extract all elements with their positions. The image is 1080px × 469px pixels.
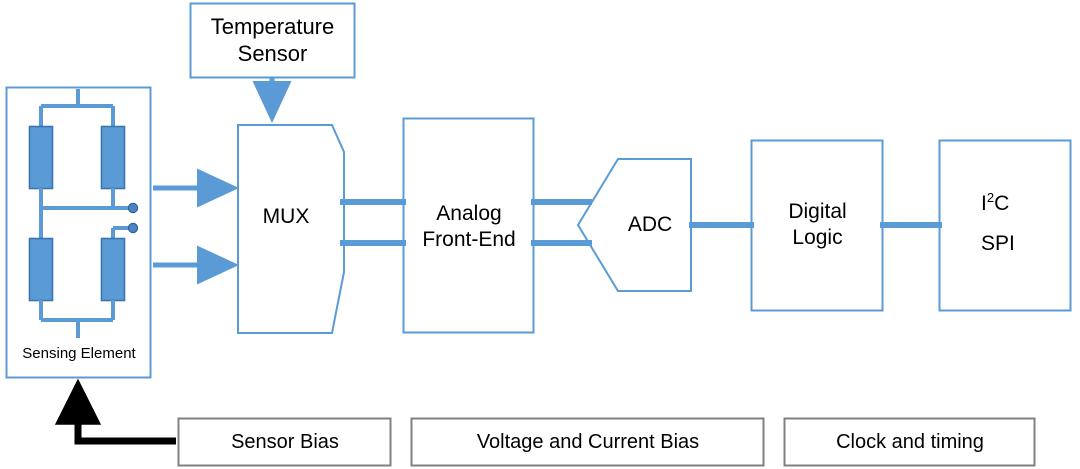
voltage-current-bias-box[interactable] bbox=[412, 419, 764, 466]
interface-box[interactable] bbox=[940, 141, 1071, 311]
diagram-vector-layer bbox=[0, 0, 1080, 469]
adc-block[interactable] bbox=[578, 159, 691, 291]
clock-timing-box[interactable] bbox=[785, 419, 1035, 466]
temperature-sensor-box[interactable] bbox=[191, 4, 355, 78]
block-diagram-canvas: Sensing Element Temperature Sensor MUX A… bbox=[0, 0, 1080, 469]
resistor-bottom-right bbox=[102, 239, 125, 301]
resistor-top-left bbox=[30, 127, 53, 189]
terminal-dot-lower bbox=[128, 223, 137, 232]
digital-logic-box[interactable] bbox=[752, 141, 883, 311]
sensor-bias-to-sensing-element-arrow bbox=[78, 387, 176, 441]
terminal-dot-upper bbox=[128, 203, 137, 212]
resistor-bottom-left bbox=[30, 239, 53, 301]
sensor-bias-box[interactable] bbox=[179, 419, 391, 466]
mux-block[interactable] bbox=[238, 125, 344, 333]
resistor-top-right bbox=[102, 127, 125, 189]
analog-front-end-box[interactable] bbox=[404, 119, 534, 333]
